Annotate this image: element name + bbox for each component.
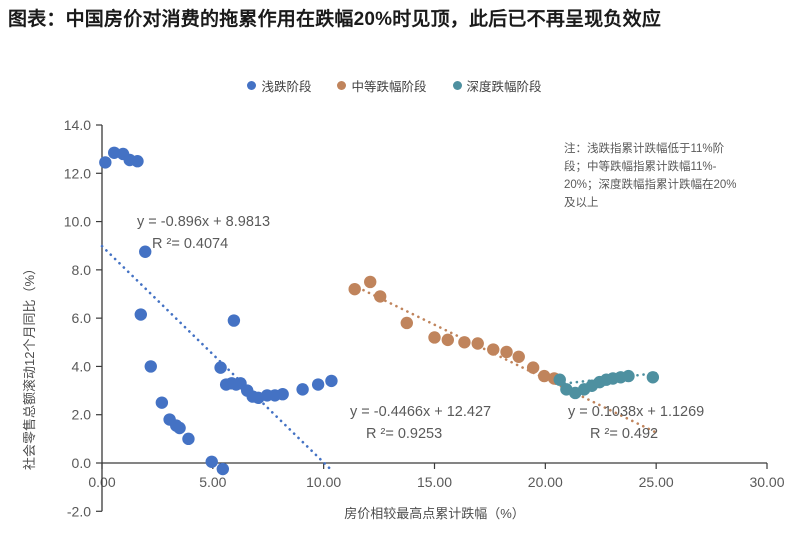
data-point[interactable] xyxy=(228,314,240,326)
x-tick-label: 30.00 xyxy=(749,474,784,490)
y-tick-label: 14.0 xyxy=(64,117,91,133)
y-tick-label: 6.0 xyxy=(72,310,92,326)
data-point[interactable] xyxy=(296,383,308,395)
data-point[interactable] xyxy=(458,336,470,348)
equation-medium-r2: R ²= 0.9253 xyxy=(366,426,442,442)
data-point[interactable] xyxy=(145,360,157,372)
data-point[interactable] xyxy=(647,371,659,383)
data-point[interactable] xyxy=(206,456,218,468)
data-point[interactable] xyxy=(214,361,226,373)
scatter-chart: -2.00.02.04.06.08.010.012.014.0 0.005.00… xyxy=(0,0,789,539)
data-point[interactable] xyxy=(312,378,324,390)
data-point[interactable] xyxy=(156,396,168,408)
data-point[interactable] xyxy=(131,155,143,167)
data-point[interactable] xyxy=(428,331,440,343)
data-point[interactable] xyxy=(487,343,499,355)
x-tick-label: 10.00 xyxy=(306,474,341,490)
equation-shallow-r2: R ²= 0.4074 xyxy=(152,236,228,252)
chart-canvas: -2.00.02.04.06.08.010.012.014.0 0.005.00… xyxy=(0,0,789,539)
chart-note: 注：浅跌指累计跌幅低于11%阶段；中等跌幅指累计跌幅11%-20%；深度跌幅指累… xyxy=(564,141,737,209)
data-point[interactable] xyxy=(217,463,229,475)
x-axis-title: 房价相较最高点累计跌幅（%） xyxy=(344,506,525,521)
data-point[interactable] xyxy=(182,433,194,445)
data-point[interactable] xyxy=(99,156,111,168)
y-tick-label: 4.0 xyxy=(72,358,92,374)
y-tick-label: -2.0 xyxy=(67,503,91,519)
y-tick-label: 10.0 xyxy=(64,214,91,230)
chart-note-line: 20%；深度跌幅指累计跌幅在20% xyxy=(564,177,737,191)
y-axis-ticks: -2.00.02.04.06.08.010.012.014.0 xyxy=(64,117,102,519)
data-point[interactable] xyxy=(513,351,525,363)
data-point[interactable] xyxy=(173,422,185,434)
data-point[interactable] xyxy=(135,308,147,320)
data-point[interactable] xyxy=(276,388,288,400)
data-point[interactable] xyxy=(500,346,512,358)
y-axis-title: 社会零售总额滚动12个月同比（%） xyxy=(22,262,37,470)
x-tick-label: 15.00 xyxy=(417,474,452,490)
x-tick-label: 5.00 xyxy=(199,474,226,490)
equation-shallow-line: y = -0.896x + 8.9813 xyxy=(137,214,270,230)
x-tick-label: 20.00 xyxy=(528,474,563,490)
x-axis-ticks: 0.005.0010.0015.0020.0025.0030.00 xyxy=(88,463,784,490)
data-point[interactable] xyxy=(325,375,337,387)
data-point[interactable] xyxy=(442,334,454,346)
data-point[interactable] xyxy=(622,370,634,382)
data-point[interactable] xyxy=(527,361,539,373)
y-tick-label: 8.0 xyxy=(72,262,92,278)
data-point[interactable] xyxy=(139,246,151,258)
chart-note-line: 及以上 xyxy=(564,196,599,209)
equation-deep-line: y = 0.1038x + 1.1269 xyxy=(568,404,704,420)
chart-note-line: 段；中等跌幅指累计跌幅11%- xyxy=(564,159,717,173)
trendline-0 xyxy=(102,246,333,471)
equation-deep-r2: R ²= 0.492 xyxy=(590,426,658,442)
data-point[interactable] xyxy=(364,276,376,288)
x-tick-label: 25.00 xyxy=(639,474,674,490)
data-point[interactable] xyxy=(374,290,386,302)
equation-medium-line: y = -0.4466x + 12.427 xyxy=(350,404,491,420)
y-tick-label: 0.0 xyxy=(72,455,92,471)
data-point[interactable] xyxy=(349,283,361,295)
data-point[interactable] xyxy=(472,337,484,349)
data-point[interactable] xyxy=(401,317,413,329)
y-tick-label: 2.0 xyxy=(72,407,92,423)
chart-note-line: 注：浅跌指累计跌幅低于11%阶 xyxy=(564,141,725,155)
y-tick-label: 12.0 xyxy=(64,165,91,181)
